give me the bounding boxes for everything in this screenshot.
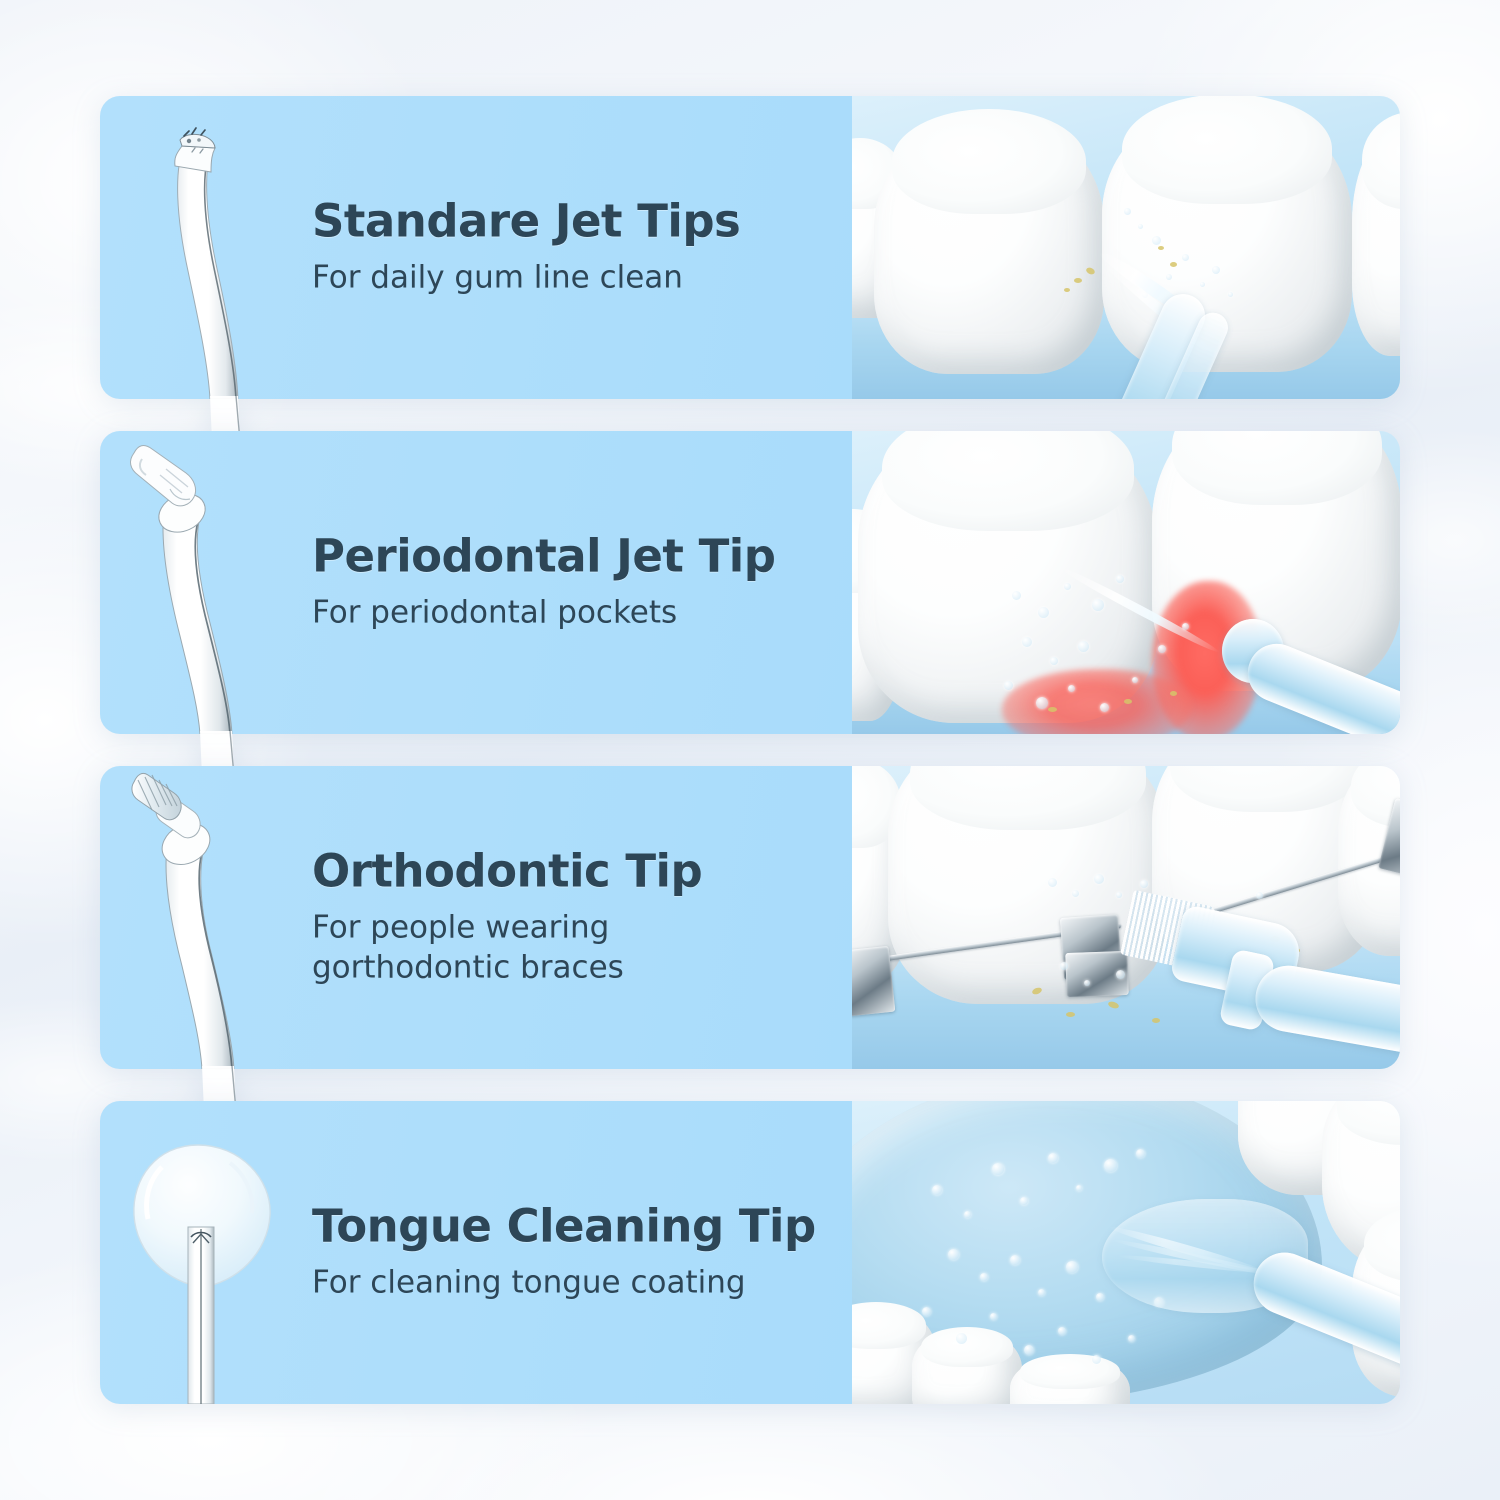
- card-text-panel: Standare Jet Tips For daily gum line cle…: [100, 96, 852, 399]
- tongue-cleaning-tip-icon: [112, 1101, 312, 1404]
- teeth-water-jet-photo: [852, 96, 1400, 399]
- card-subtitle-line-2: gorthodontic braces: [312, 948, 782, 988]
- card-subtitle-line-1: For people wearing: [312, 909, 782, 949]
- card-text-panel: Tongue Cleaning Tip For cleaning tongue …: [100, 1101, 852, 1404]
- card-title: Tongue Cleaning Tip: [312, 1202, 826, 1250]
- card-subtitle: For periodontal pockets: [312, 594, 782, 634]
- card-subtitle: For cleaning tongue coating: [312, 1264, 782, 1304]
- tip-card-standard-jet[interactable]: Standare Jet Tips For daily gum line cle…: [100, 96, 1400, 399]
- tip-cards-list: Standare Jet Tips For daily gum line cle…: [100, 96, 1400, 1404]
- braces-brackets-cleaning-photo: [852, 766, 1400, 1069]
- card-title: Orthodontic Tip: [312, 847, 826, 895]
- orthodontic-brush-tip-icon: [112, 766, 312, 1069]
- card-text-panel: Orthodontic Tip For people wearing gorth…: [100, 766, 852, 1069]
- periodontal-jet-tip-icon: [112, 431, 312, 734]
- card-title: Periodontal Jet Tip: [312, 532, 826, 580]
- tongue-coating-cleaning-photo: [852, 1101, 1400, 1404]
- tip-card-periodontal-jet[interactable]: Periodontal Jet Tip For periodontal pock…: [100, 431, 1400, 734]
- tip-card-orthodontic[interactable]: Orthodontic Tip For people wearing gorth…: [100, 766, 1400, 1069]
- standard-jet-tip-icon: [112, 96, 312, 399]
- card-title: Standare Jet Tips: [312, 197, 826, 245]
- inflamed-gum-pocket-photo: [852, 431, 1400, 734]
- card-subtitle: For daily gum line clean: [312, 259, 782, 299]
- card-text-panel: Periodontal Jet Tip For periodontal pock…: [100, 431, 852, 734]
- card-subtitle: For people wearing gorthodontic braces: [312, 909, 782, 988]
- tip-card-tongue-cleaning[interactable]: Tongue Cleaning Tip For cleaning tongue …: [100, 1101, 1400, 1404]
